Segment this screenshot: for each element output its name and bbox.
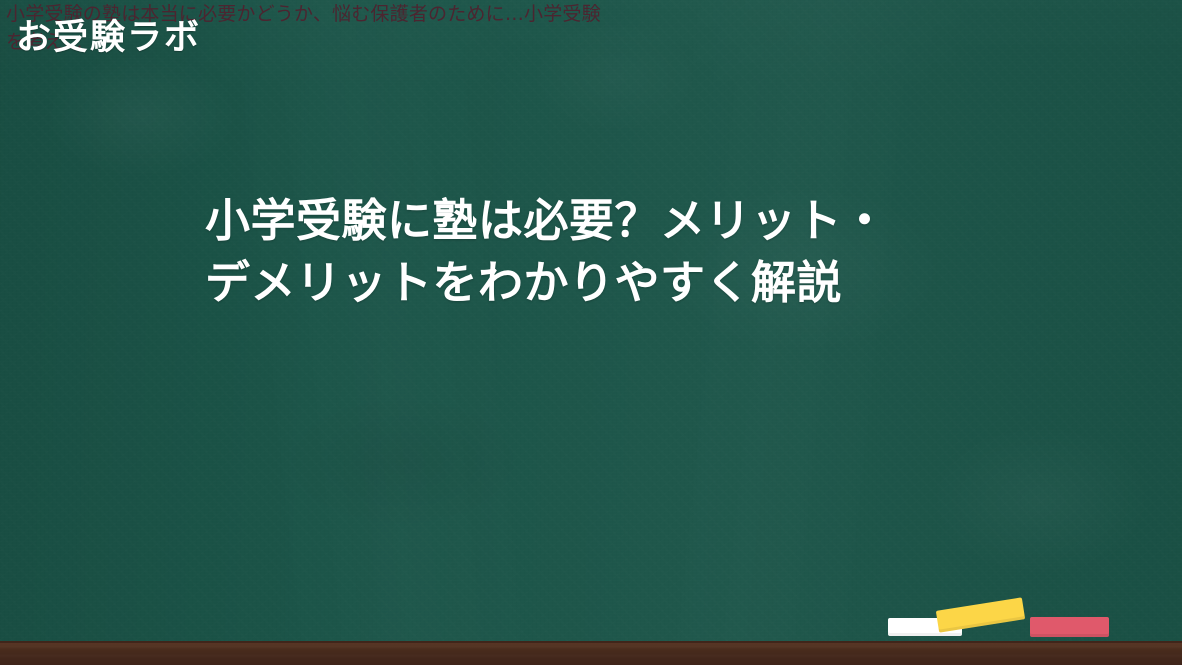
page-title: 小学受験に塾は必要？メリット・ デメリットをわかりやすく解説 <box>205 190 1045 314</box>
chalkboard-surface <box>0 0 1182 641</box>
chalkboard-smudge-overlay <box>0 0 1182 641</box>
page-title-line-1: 小学受験に塾は必要？メリット・ <box>205 190 1045 252</box>
ledge-wood-grain <box>0 641 1182 665</box>
page-title-line-2: デメリットをわかりやすく解説 <box>205 252 1045 314</box>
chalkboard-ledge <box>0 641 1182 665</box>
red-chalk-stick <box>1030 617 1109 637</box>
chalkboard-thumbnail: 小学受験の塾は本当に必要かどうか、悩む保護者のために…小学受験を考え… お受験ラ… <box>0 0 1182 665</box>
site-logo[interactable]: お受験ラボ <box>16 18 201 58</box>
chalkboard-texture-grain <box>0 0 1182 641</box>
